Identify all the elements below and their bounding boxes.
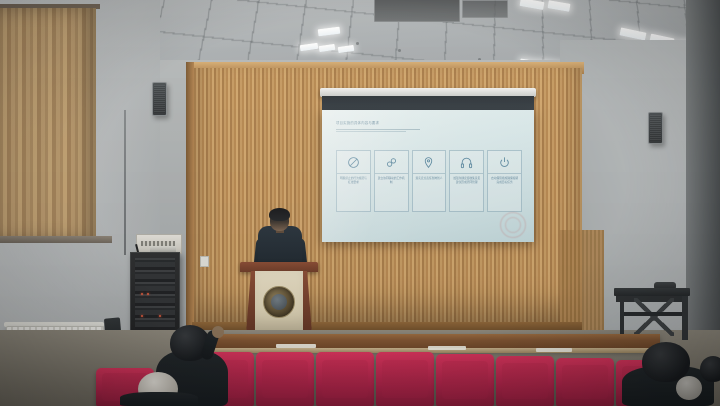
slide-card: 建立协同联动的工作机制 [374,150,409,212]
slide-card: 启动保障措施确保按期完成目标任务 [487,150,522,212]
audience-head [676,376,702,400]
side-table [614,288,690,296]
wall-speaker-right [648,112,663,144]
seat-cushion [382,360,428,399]
projection-screen[interactable]: 项目实施的具体内容与要求 明确禁止的行为规范与红线要求 建立协同联动的工作机制 [322,110,534,242]
side-table-shelf [620,312,684,316]
audience-member [120,392,198,406]
seat-cushion [442,361,488,398]
slide-card-text: 建立协同联动的工作机制 [375,174,408,184]
institution-emblem [263,286,295,318]
seat-cushion [322,360,368,399]
desk-paper [428,346,466,350]
slide-card-row: 明确禁止的行为规范与红线要求 建立协同联动的工作机制 落实定点责任到岗 [336,150,522,212]
ceiling-sensor-icon [398,49,401,52]
speaker-grill [650,115,661,141]
headphones-icon [450,151,483,174]
seat-cushion [502,363,548,399]
prohibited-icon [337,151,370,174]
red-seal-watermark [500,212,526,238]
auditorium-seat[interactable] [376,352,434,406]
status-led [147,293,149,295]
auditorium-seat[interactable] [316,352,374,406]
ceiling-sensor-icon [356,42,359,45]
seat-cushion [262,360,308,399]
speaker-grill [154,85,165,113]
side-table-leg [620,296,624,336]
pin-icon [413,151,446,174]
ceiling-vent-icon [374,0,460,22]
emblem-inner [271,294,287,310]
audience-hand [212,326,224,338]
slide-card: 落实定点责任到岗到人 [412,150,447,212]
wall-speaker-left [152,82,167,116]
slide-title: 项目实施的具体内容与要求 [336,120,420,126]
hanging-cable [124,110,126,255]
slide-title-area: 项目实施的具体内容与要求 [336,120,420,130]
lecture-hall-photo: 项目实施的具体内容与要求 明确禁止的行为规范与红线要求 建立协同联动的工作机制 [0,0,720,406]
wood-panel-right [560,230,604,334]
podium-top [240,262,318,272]
power-icon [488,151,521,174]
auditorium-seat[interactable] [556,358,614,406]
red-seal-inner [505,217,521,233]
slide-card: 明确禁止的行为规范与红线要求 [336,150,371,212]
presenter-hair [269,208,290,221]
slide-card-text: 加强沟通反馈收集意见建议形成闭环管理 [450,174,483,184]
status-led [159,315,161,317]
auditorium-seat[interactable] [496,356,554,406]
desk-paper [276,344,316,348]
slide-card: 加强沟通反馈收集意见建议形成闭环管理 [449,150,484,212]
slide-card-text: 启动保障措施确保按期完成目标任务 [488,174,521,184]
status-led [141,315,143,317]
slide-title-underline [336,131,406,132]
audience-head [700,356,720,382]
slide-card-text: 落实定点责任到岗到人 [414,174,445,181]
side-table-leg [682,296,688,340]
window-sill [0,236,112,243]
ceiling-vent-secondary-icon [462,0,508,18]
seat-cushion [562,365,608,400]
status-led [141,293,143,295]
window-curtain [0,8,96,240]
auditorium-seat[interactable] [256,352,314,406]
wall-outlet [200,256,209,267]
wood-wall-edge [186,62,194,330]
desk-paper [536,348,572,352]
link-icon [375,151,408,174]
audience-head [642,342,690,382]
slide-card-text: 明确禁止的行为规范与红线要求 [337,174,370,184]
side-table-brace [634,298,674,336]
auditorium-seat[interactable] [436,354,494,406]
